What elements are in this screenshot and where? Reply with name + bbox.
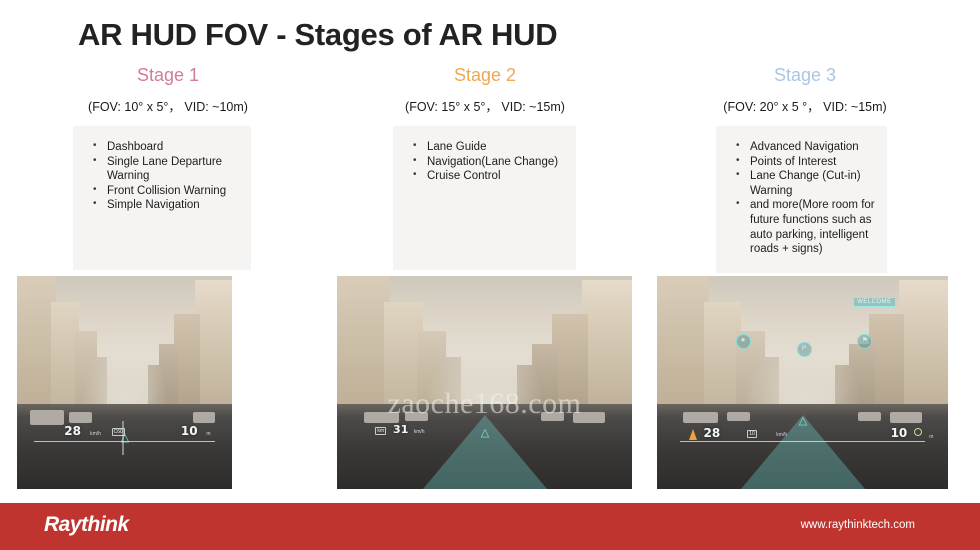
stage-3-feature-list: Advanced Navigation Points of Interest L…	[734, 140, 877, 257]
parked-car	[890, 412, 922, 423]
hud-center-chip: km	[375, 427, 386, 435]
hud-chevron-icon: △	[481, 429, 488, 438]
hud-lane-guide-overlay	[423, 415, 547, 489]
stage-3-hud-photo: WELCOME ★ P ⚑ △ 28 10 km/h 10 m	[657, 276, 948, 489]
welcome-sign-overlay: WELCOME	[853, 297, 896, 307]
stage-1-spec: (FOV: 10° x 5°， VID: ~10m)	[8, 96, 328, 112]
hud-speed-value: 28	[64, 424, 81, 438]
hud-distance-unit: m	[206, 431, 210, 437]
hud-divider-line	[680, 441, 924, 442]
poi-marker-parking-icon: P	[797, 342, 812, 357]
stage-1-hud-photo: △ 28 km/h C60 10 m	[17, 276, 232, 489]
list-item: Advanced Navigation	[734, 140, 877, 155]
hud-center-chip: 10	[747, 430, 757, 438]
hud-distance-unit: m	[929, 434, 933, 440]
parked-car	[30, 410, 64, 425]
hud-speed-value: 31	[393, 423, 408, 436]
list-item: Simple Navigation	[91, 198, 241, 213]
list-item: Single Lane Departure Warning	[91, 155, 241, 184]
footer-website-link[interactable]: www.raythinktech.com	[801, 519, 915, 531]
stage-1-title: Stage 1	[8, 64, 328, 88]
hud-divider-line	[34, 441, 215, 442]
list-item: and more(More room for future functions …	[734, 198, 877, 256]
stage-column-3: Stage 3 (FOV: 20° x 5 °， VID: ~15m)	[645, 64, 965, 112]
stage-2-hud-photo: △ 31 km/h km zaoche168.com	[337, 276, 632, 489]
hud-status-dot-icon	[914, 428, 922, 436]
stage-2-feature-list: Lane Guide Navigation(Lane Change) Cruis…	[411, 140, 566, 184]
stage-2-spec: (FOV: 15° x 5°， VID: ~15m)	[325, 96, 645, 112]
footer-bar: Raythink www.raythinktech.com	[0, 503, 980, 550]
stage-3-title: Stage 3	[645, 64, 965, 88]
hud-speed-value: 28	[704, 426, 721, 440]
list-item: Navigation(Lane Change)	[411, 155, 566, 170]
hud-speed-unit: km/h	[776, 432, 787, 438]
stage-2-feature-card: Lane Guide Navigation(Lane Change) Cruis…	[393, 126, 576, 270]
stage-3-feature-card: Advanced Navigation Points of Interest L…	[716, 126, 887, 273]
list-item: Cruise Control	[411, 169, 566, 184]
hud-distance-value: 10	[181, 424, 198, 438]
hud-distance-value: 10	[891, 426, 908, 440]
parked-car	[573, 412, 605, 423]
raythink-logo: Raythink	[44, 513, 129, 537]
list-item: Lane Change (Cut-in) Warning	[734, 169, 877, 198]
stage-3-spec: (FOV: 20° x 5 °， VID: ~15m)	[645, 96, 965, 112]
poi-marker-left-icon: ★	[736, 334, 751, 349]
list-item: Lane Guide	[411, 140, 566, 155]
stage-column-2: Stage 2 (FOV: 15° x 5°， VID: ~15m)	[325, 64, 645, 112]
parked-car	[193, 412, 215, 423]
list-item: Points of Interest	[734, 155, 877, 170]
stage-column-1: Stage 1 (FOV: 10° x 5°， VID: ~10m)	[8, 64, 328, 112]
poi-marker-right-icon: ⚑	[857, 334, 872, 349]
stage-1-feature-list: Dashboard Single Lane Departure Warning …	[91, 140, 241, 213]
parked-car	[364, 412, 399, 423]
page-title: AR HUD FOV - Stages of AR HUD	[78, 17, 557, 53]
hud-chevron-icon: △	[799, 417, 806, 426]
parked-car	[683, 412, 718, 423]
hud-speed-unit: km/h	[414, 429, 425, 435]
stage-2-title: Stage 2	[325, 64, 645, 88]
parked-car	[69, 412, 93, 423]
list-item: Front Collision Warning	[91, 184, 241, 199]
hud-center-chip: C60	[112, 428, 125, 436]
hud-speed-unit: km/h	[90, 431, 101, 437]
list-item: Dashboard	[91, 140, 241, 155]
stage-1-feature-card: Dashboard Single Lane Departure Warning …	[73, 126, 251, 270]
hud-speed-arrow-icon	[689, 429, 697, 440]
